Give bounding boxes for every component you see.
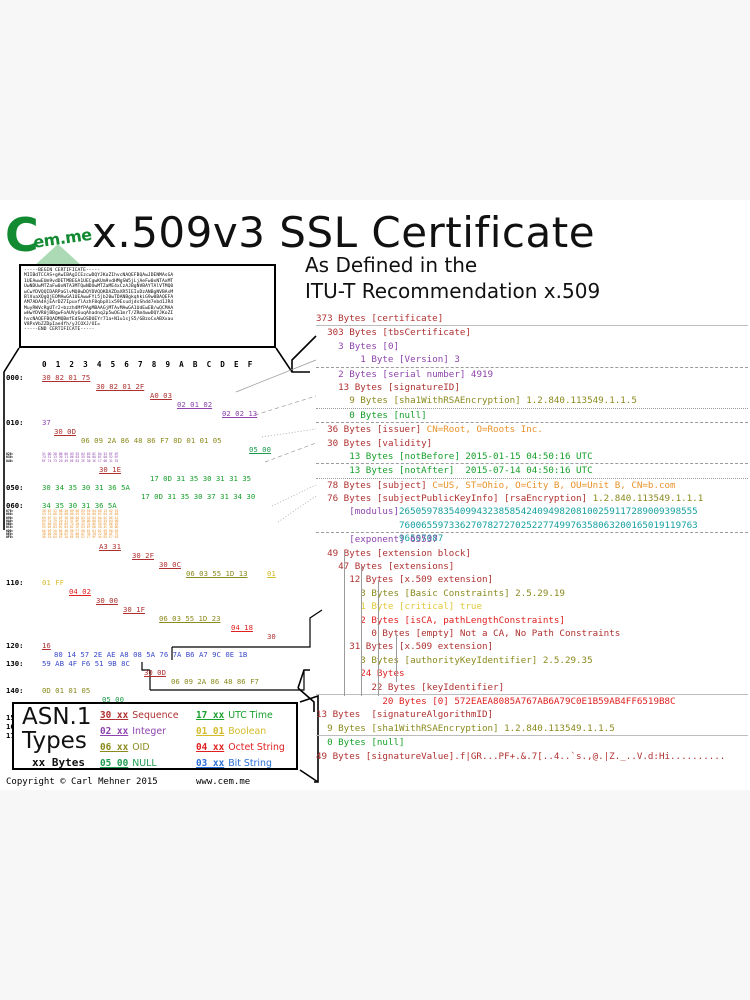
tree-row: 13 Bytes [notAfter] 2015-07-14 04:50:16 …	[316, 463, 748, 477]
tree-label: [signatureAlgorithmID]	[366, 709, 493, 720]
tree-size: 36 Bytes	[327, 424, 377, 435]
tree-indent	[316, 493, 327, 504]
tree-row: 2 Bytes [serial number] 4919	[316, 367, 748, 381]
tree-label: [null]	[371, 737, 404, 748]
tree-label: [empty]	[416, 628, 455, 639]
tree-value: Not a CA, No Path Constraints	[454, 628, 620, 639]
legend-item-null: 05 00NULL	[100, 756, 196, 772]
cem-me-logo: C em.me	[4, 211, 84, 263]
tree-indent	[316, 438, 327, 449]
hex-bytes-squish-2: 30 4E 31 0B 30 09 06 03 55 04 06 13 02 5…	[42, 510, 118, 540]
hex-bytes-110g: 30	[267, 632, 276, 641]
tree-size: 76 Bytes	[327, 493, 377, 504]
tree-size: 3 Bytes	[360, 588, 404, 599]
hex-bytes-010c: 06 09 2A 86 48 86 F7 0D 01 01 05	[81, 436, 222, 445]
copyright-text: Copyright © Carl Mehner 2015	[6, 777, 158, 787]
tree-value: 3	[449, 354, 460, 365]
subtitle-line-1: As Defined in the	[305, 253, 477, 277]
tree-row: 3 Bytes [0]	[316, 340, 748, 353]
tree-size: 13 Bytes	[349, 465, 399, 476]
tree-label: [sha1WithRSAEncryption]	[371, 723, 498, 734]
tree-label: [sha1WithRSAEncryption]	[393, 395, 520, 406]
hex-offset-130: 130:	[6, 659, 24, 668]
tree-row: 20 Bytes [0] 572EAEA8085A767AB6A79C0E1B5…	[316, 694, 748, 708]
tree-size: 49 Bytes	[327, 548, 377, 559]
tree-row: 47 Bytes [extensions]	[316, 560, 748, 573]
tree-value: true	[454, 601, 482, 612]
legend-item-octet-string: 04 xxOctet String	[196, 740, 285, 756]
tree-size: 13 Bytes	[349, 451, 399, 462]
legend-item-oid: 06 xxOID	[100, 740, 196, 756]
tree-indent	[316, 534, 349, 545]
tree-label: [subjectPublicKeyInfo] [rsaEncryption]	[377, 493, 587, 504]
tree-row: 0 Bytes [null]	[316, 735, 748, 749]
tree-indent	[316, 410, 349, 421]
tree-guide-x509-extension	[378, 580, 379, 696]
tree-indent	[316, 601, 360, 612]
legend-code: 04 xx	[196, 742, 224, 753]
tree-indent	[316, 465, 349, 476]
tree-row: 0 Bytes [empty] Not a CA, No Path Constr…	[316, 627, 748, 640]
hex-bytes-110a: 01 FF	[42, 578, 64, 587]
tree-indent	[316, 668, 360, 679]
hex-bytes-100c: 30 0C	[159, 560, 181, 569]
hex-bytes-120b: 80 14 57 2E AE A8 08 5A 76 7A B6 A7 9C 0…	[54, 650, 247, 659]
hex-offset-110: 110:	[6, 578, 24, 587]
hex-bytes-050: 30 34 35 30 31 36 5A	[42, 483, 130, 492]
website-link: www.cem.me	[196, 777, 250, 787]
legend-label: Integer	[132, 726, 166, 737]
tree-size: 12 Bytes	[349, 574, 399, 585]
tree-value: 1.2.840.113549.1.1.5	[521, 395, 637, 406]
tree-size: 78 Bytes	[327, 480, 377, 491]
legend-code: 02 xx	[100, 726, 128, 737]
tree-row: 373 Bytes [certificate]	[316, 312, 748, 325]
tree-value: 2650597835409943238585424094982081002591…	[399, 505, 699, 545]
tree-label: [modulus]	[349, 506, 399, 517]
tree-row: 13 Bytes [signatureID]	[316, 381, 748, 394]
tree-label: [authorityKeyIdentifier]	[405, 655, 538, 666]
tree-label: [extension block]	[377, 548, 471, 559]
tree-row: 3 Bytes [authorityKeyIdentifier] 2.5.29.…	[316, 654, 748, 667]
legend-code: 03 xx	[196, 758, 224, 769]
hex-bytes-010b: 30 0D	[54, 427, 76, 436]
tree-label: [0]	[382, 341, 399, 352]
legend-item-utc-time: 17 xxUTC Time	[196, 708, 273, 724]
hex-offset-020: 020: 030: 040:	[6, 453, 13, 463]
tree-indent	[316, 382, 338, 393]
hex-offset-010: 010:	[6, 418, 24, 427]
tree-label: [0]	[432, 696, 449, 707]
legend-item-integer: 02 xxInteger	[100, 724, 196, 740]
tree-guide-extension-block	[344, 552, 345, 696]
tree-label: [critical]	[399, 601, 454, 612]
hex-bytes-000c: A0 03	[150, 391, 172, 400]
poster-body: C em.me x.509v3 SSL Certificate As Defin…	[0, 200, 750, 790]
hex-bytes-000e: 02 02 13	[222, 409, 257, 418]
hex-bytes-squish-1: 31 0D 30 0B 06 03 55 04 03 0C 04 52 6F 6…	[42, 453, 118, 463]
tree-row: 9 Bytes [sha1WithRSAEncryption] 1.2.840.…	[316, 394, 748, 407]
tree-value: C=US, ST=Ohio, O=City B, OU=Unit B, CN=b…	[427, 480, 676, 491]
hex-offset-070: 070: 080: 090: 0A0: 0B0: 0C0: 0D0: 0E0: …	[6, 510, 13, 540]
tree-indent	[316, 480, 327, 491]
tree-label: [x.509 extension]	[399, 574, 493, 585]
tree-size: 0 Bytes	[327, 737, 371, 748]
legend-code: 01 01	[196, 726, 224, 737]
tree-size: 30 Bytes	[327, 438, 377, 449]
hex-bytes-110f: 04 18	[231, 623, 253, 632]
tree-size: 31 Bytes	[349, 641, 399, 652]
pem-certificate-block: -----BEGIN CERTIFICATE----- MIIBdTCCAS+g…	[19, 264, 276, 348]
tree-size: 3 Bytes	[360, 655, 404, 666]
tree-row: 49 Bytes [extension block]	[316, 547, 748, 560]
tree-label: [signatureValue].f|GR...PF+.&.7[..4..`s.…	[366, 751, 726, 762]
tree-size: 0 Bytes	[349, 410, 393, 421]
legend-code: 06 xx	[100, 742, 128, 753]
legend-item-sequence: 30 xxSequence	[100, 708, 196, 724]
tree-label: [notAfter]	[399, 465, 454, 476]
tree-label: [notBefore]	[399, 451, 460, 462]
hex-bytes-100d: 06 03 55 1D 13	[186, 569, 248, 578]
legend-label: Boolean	[228, 726, 266, 737]
legend-label: Octet String	[228, 742, 285, 753]
asn1-types-legend: ASN.1 Types xx Bytes 30 xxSequence17 xxU…	[12, 702, 298, 770]
tree-row: 31 Bytes [x.509 extension]	[316, 640, 748, 653]
hex-bytes-120a: 16	[42, 641, 51, 650]
logo-wordmark: em.me	[32, 225, 93, 252]
tree-indent	[316, 327, 327, 338]
tree-size: 20 Bytes	[382, 696, 432, 707]
tree-size: 3 Bytes	[338, 341, 382, 352]
hex-offset-000: 000:	[6, 373, 24, 382]
tree-row: 24 Bytes	[316, 667, 748, 680]
tree-value: 65537	[405, 534, 438, 545]
tree-row: 78 Bytes [subject] C=US, ST=Ohio, O=City…	[316, 478, 748, 492]
legend-row: 06 xxOID04 xxOctet String	[100, 740, 296, 756]
legend-label: Bit String	[228, 758, 272, 769]
tree-indent	[316, 723, 327, 734]
hex-bytes-040b: 30 1E	[99, 465, 121, 474]
background-band-bottom	[0, 790, 750, 1000]
tree-size: 1 Byte	[360, 601, 399, 612]
tree-row: 0 Bytes [null]	[316, 408, 748, 422]
tree-size: 1 Byte	[360, 354, 399, 365]
tree-value: 2015-07-14 04:50:16 UTC	[454, 465, 592, 476]
tree-indent	[316, 424, 327, 435]
tree-value: 2.5.29.35	[537, 655, 592, 666]
hex-bytes-000a: 30 82 01 75	[42, 373, 90, 382]
tree-indent	[316, 369, 338, 380]
tree-label: [serial number]	[382, 369, 465, 380]
legend-label: OID	[132, 742, 149, 753]
tree-value: 1.2.840.113549.1.1.1	[587, 493, 703, 504]
tree-label: [null]	[393, 410, 426, 421]
tree-size: 24 Bytes	[360, 668, 410, 679]
hex-bytes-010a: 37	[42, 418, 51, 427]
tree-row: 303 Bytes [tbsCertificate]	[316, 325, 748, 339]
tree-row: 9 Bytes [sha1WithRSAEncryption] 1.2.840.…	[316, 722, 748, 735]
tree-indent	[316, 341, 338, 352]
tree-guide-authority-key	[396, 634, 397, 682]
tree-label: [validity]	[377, 438, 432, 449]
tree-label: [Basic Constraints]	[405, 588, 510, 599]
legend-row: 30 xxSequence17 xxUTC Time	[100, 708, 296, 724]
tree-size: 13 Bytes	[338, 382, 388, 393]
tree-label: [keyIdentifier]	[421, 682, 504, 693]
tree-size: 13 Bytes	[316, 709, 366, 720]
tree-row: 36 Bytes [issuer] CN=Root, O=Roots Inc.	[316, 422, 748, 436]
legend-label: NULL	[132, 758, 156, 769]
tree-size: 49 Bytes	[316, 751, 366, 762]
tree-label: [issuer]	[377, 424, 421, 435]
background-band-top	[0, 0, 750, 200]
tree-value: 2.5.29.19	[510, 588, 565, 599]
tree-label: [tbsCertificate]	[382, 327, 471, 338]
tree-label: [extensions]	[388, 561, 454, 572]
tree-row: 76 Bytes [subjectPublicKeyInfo] [rsaEncr…	[316, 492, 748, 505]
tree-label: [exponent]	[349, 534, 404, 545]
tree-indent	[316, 561, 338, 572]
tree-row: 13 Bytes [notBefore] 2015-01-15 04:50:16…	[316, 450, 748, 463]
tree-label: [isCA, pathLengthConstraints]	[405, 615, 565, 626]
tree-value: CN=Root, O=Roots Inc.	[421, 424, 543, 435]
tree-row: 49 Bytes [signatureValue].f|GR...PF+.&.7…	[316, 750, 748, 763]
legend-row: 05 00NULL03 xxBit String	[100, 756, 296, 772]
legend-item-bit-string: 03 xxBit String	[196, 756, 272, 772]
hex-bytes-110e: 06 03 55 1D 23	[159, 614, 221, 623]
hex-bytes-100e: 01	[267, 569, 276, 578]
hex-bytes-000b: 30 82 01 2F	[96, 382, 144, 391]
tree-label: [subject]	[377, 480, 427, 491]
tree-row: 1 Byte [Version] 3	[316, 353, 748, 366]
tree-row: 1 Byte [critical] true	[316, 600, 748, 613]
asn1-structure-tree: 373 Bytes [certificate] 303 Bytes [tbsCe…	[316, 312, 748, 763]
tree-row: 3 Bytes [Basic Constraints] 2.5.29.19	[316, 587, 748, 600]
tree-value: 4919	[465, 369, 493, 380]
tree-value: 1.2.840.113549.1.1.5	[499, 723, 615, 734]
tree-size: 303 Bytes	[327, 327, 382, 338]
tree-label: [Version]	[399, 354, 449, 365]
hex-bytes-010d: 05 00	[249, 445, 271, 454]
legend-label: UTC Time	[228, 710, 273, 721]
tree-indent	[316, 354, 360, 365]
tree-size: 2 Bytes	[338, 369, 382, 380]
hex-offset-050: 050:	[6, 483, 24, 492]
tree-indent	[316, 737, 327, 748]
tree-value: 2015-01-15 04:50:16 UTC	[460, 451, 593, 462]
tree-row: 30 Bytes [validity]	[316, 437, 748, 450]
tree-size: 9 Bytes	[327, 723, 371, 734]
tree-row: 22 Bytes [keyIdentifier]	[316, 681, 748, 694]
hex-bytes-000d: 02 01 02	[177, 400, 212, 409]
tree-indent	[316, 506, 349, 517]
legend-item-boolean: 01 01Boolean	[196, 724, 266, 740]
tree-indent	[316, 548, 327, 559]
tree-label: [certificate]	[371, 313, 443, 324]
tree-value: 572EAEA8085A767AB6A79C0E1B59AB4FF6519B8C	[449, 696, 676, 707]
legend-label: Sequence	[132, 710, 178, 721]
legend-code: 30 xx	[100, 710, 128, 721]
legend-row: 02 xxInteger01 01Boolean	[100, 724, 296, 740]
tree-size: 9 Bytes	[349, 395, 393, 406]
tree-size: 2 Bytes	[360, 615, 404, 626]
hex-bytes-110b: 04 02	[69, 587, 91, 596]
legend-heading-2: Types	[22, 729, 87, 753]
tree-row: 2 Bytes [isCA, pathLengthConstraints]	[316, 614, 748, 627]
hex-offset-140: 140:	[6, 686, 24, 695]
hex-bytes-050b: 17 0D 31 35 30 37 31 34 30	[141, 492, 255, 501]
tree-indent	[316, 696, 382, 707]
subtitle-line-2: ITU-T Recommendation x.509	[305, 279, 600, 303]
legend-heading-3: xx Bytes	[32, 756, 85, 769]
hex-bytes-110c: 30 00	[96, 596, 118, 605]
hex-bytes-040c: 17 0D 31 35 30 31 31 35	[150, 474, 251, 483]
tree-indent	[316, 615, 360, 626]
tree-row: [modulus] 265059783540994323858542409498…	[316, 505, 748, 532]
tree-label: [x.509 extension]	[399, 641, 493, 652]
hex-bytes-100b: 30 2F	[132, 551, 154, 560]
legend-code: 05 00	[100, 758, 128, 769]
tree-guide-extensions	[361, 566, 362, 696]
hex-bytes-130: 59 AB 4F F6 51 9B 8C	[42, 659, 130, 668]
tree-indent	[316, 588, 360, 599]
hex-bytes-130c: 06 09 2A 86 48 86 F7	[171, 677, 259, 686]
legend-code: 17 xx	[196, 710, 224, 721]
tree-size: 47 Bytes	[338, 561, 388, 572]
hex-column-header: 0 1 2 3 4 5 6 7 8 9 A B C D E F	[42, 360, 252, 369]
tree-row: 12 Bytes [x.509 extension]	[316, 573, 748, 586]
hex-bytes-130b: 30 0D	[144, 668, 166, 677]
tree-indent	[316, 451, 349, 462]
hex-bytes-110d: 30 1F	[123, 605, 145, 614]
tree-indent	[316, 395, 349, 406]
legend-heading-1: ASN.1	[22, 705, 91, 729]
hex-offset-120: 120:	[6, 641, 24, 650]
legend-grid: 30 xxSequence17 xxUTC Time02 xxInteger01…	[100, 708, 296, 772]
hex-bytes-100a: A3 31	[99, 542, 121, 551]
tree-label: [signatureID]	[388, 382, 460, 393]
hex-bytes-140: 0D 01 01 05	[42, 686, 90, 695]
tree-row: 13 Bytes [signatureAlgorithmID]	[316, 708, 748, 721]
tree-size: 373 Bytes	[316, 313, 371, 324]
poster-canvas: C em.me x.509v3 SSL Certificate As Defin…	[0, 0, 750, 1000]
page-title: x.509v3 SSL Certificate	[92, 208, 595, 257]
tree-indent	[316, 655, 360, 666]
